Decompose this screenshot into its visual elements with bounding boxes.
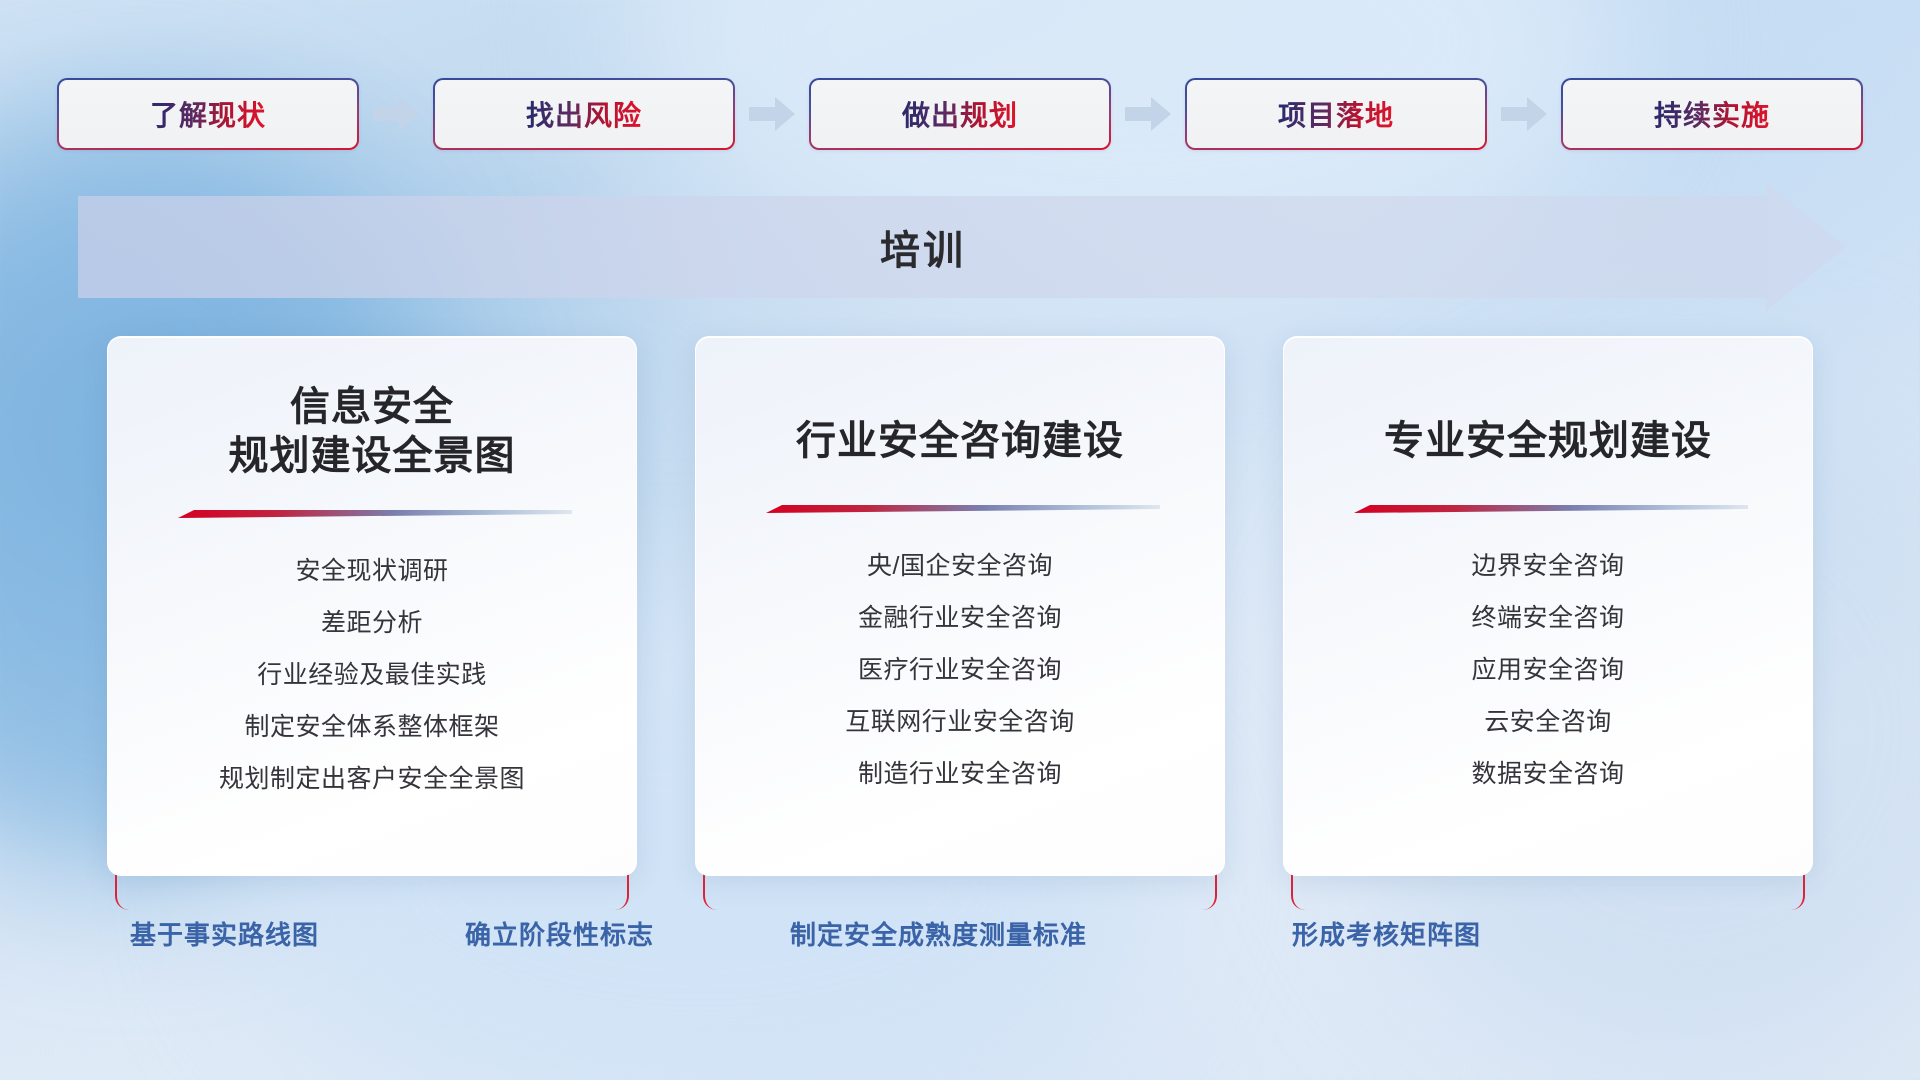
- card-list: 边界安全咨询 终端安全咨询 应用安全咨询 云安全咨询 数据安全咨询: [1471, 546, 1624, 790]
- caption-2: 确立阶段性标志: [465, 915, 654, 952]
- card-title: 信息安全 规划建设全景图: [229, 383, 516, 481]
- card-title-line1: 行业安全咨询建设: [796, 419, 1124, 463]
- list-item: 云安全咨询: [1484, 702, 1612, 738]
- process-step-row: 了解现状 找出风险 做出规划 项目落地 持续实施: [0, 78, 1920, 150]
- list-item: 安全现状调研: [295, 551, 448, 587]
- arrow-right-icon: [735, 78, 809, 150]
- list-item: 互联网行业安全咨询: [845, 702, 1075, 738]
- banner-arrow-head-icon: [1766, 183, 1846, 311]
- card-title-line2: 规划建设全景图: [229, 432, 516, 481]
- arrow-right-icon: [1487, 78, 1561, 150]
- step-box-2[interactable]: 找出风险: [433, 78, 735, 150]
- card-wrapper-3: 专业安全规划建设 边界安: [1283, 336, 1813, 876]
- step-box-3[interactable]: 做出规划: [809, 78, 1111, 150]
- card-3[interactable]: 专业安全规划建设 边界安: [1283, 336, 1813, 876]
- step-box-1[interactable]: 了解现状: [57, 78, 359, 150]
- step-label: 项目落地: [1278, 94, 1394, 134]
- card-list: 央/国企安全咨询 金融行业安全咨询 医疗行业安全咨询 互联网行业安全咨询 制造行…: [845, 546, 1075, 790]
- step-label: 了解现状: [150, 94, 266, 134]
- arrow-right-icon: [1111, 78, 1185, 150]
- list-item: 制定安全体系整体框架: [244, 707, 499, 743]
- training-banner: 培训: [78, 196, 1846, 298]
- caption-row: 基于事实路线图 确立阶段性标志 制定安全成熟度测量标准 形成考核矩阵图: [0, 915, 1920, 959]
- card-divider: [1348, 502, 1748, 516]
- arrow-right-icon: [359, 78, 433, 150]
- list-item: 应用安全咨询: [1471, 650, 1624, 686]
- card-2[interactable]: 行业安全咨询建设 央/国: [695, 336, 1225, 876]
- step-label: 找出风险: [526, 94, 642, 134]
- card-title-line1: 信息安全: [290, 385, 454, 429]
- caption-3: 制定安全成熟度测量标准: [790, 915, 1087, 952]
- step-label: 做出规划: [902, 94, 1018, 134]
- banner-label: 培训: [78, 196, 1768, 298]
- list-item: 边界安全咨询: [1471, 546, 1624, 582]
- card-title-line1: 专业安全规划建设: [1384, 419, 1712, 463]
- card-1[interactable]: 信息安全 规划建设全景图: [107, 336, 637, 876]
- list-item: 规划制定出客户安全全景图: [219, 759, 525, 795]
- card-wrapper-2: 行业安全咨询建设 央/国: [695, 336, 1225, 876]
- card-row: 信息安全 规划建设全景图: [0, 336, 1920, 876]
- card-wrapper-1: 信息安全 规划建设全景图: [107, 336, 637, 876]
- card-list: 安全现状调研 差距分析 行业经验及最佳实践 制定安全体系整体框架 规划制定出客户…: [219, 551, 525, 795]
- step-label: 持续实施: [1654, 94, 1770, 134]
- caption-4: 形成考核矩阵图: [1292, 915, 1481, 952]
- step-box-5[interactable]: 持续实施: [1561, 78, 1863, 150]
- card-title: 专业安全规划建设: [1384, 417, 1712, 466]
- caption-1: 基于事实路线图: [130, 915, 319, 952]
- step-box-4[interactable]: 项目落地: [1185, 78, 1487, 150]
- list-item: 央/国企安全咨询: [867, 546, 1053, 582]
- list-item: 行业经验及最佳实践: [257, 655, 487, 691]
- list-item: 终端安全咨询: [1471, 598, 1624, 634]
- list-item: 差距分析: [321, 603, 423, 639]
- list-item: 医疗行业安全咨询: [858, 650, 1062, 686]
- list-item: 制造行业安全咨询: [858, 754, 1062, 790]
- card-title: 行业安全咨询建设: [796, 417, 1124, 466]
- list-item: 数据安全咨询: [1471, 754, 1624, 790]
- list-item: 金融行业安全咨询: [858, 598, 1062, 634]
- card-divider: [760, 502, 1160, 516]
- card-divider: [172, 507, 572, 521]
